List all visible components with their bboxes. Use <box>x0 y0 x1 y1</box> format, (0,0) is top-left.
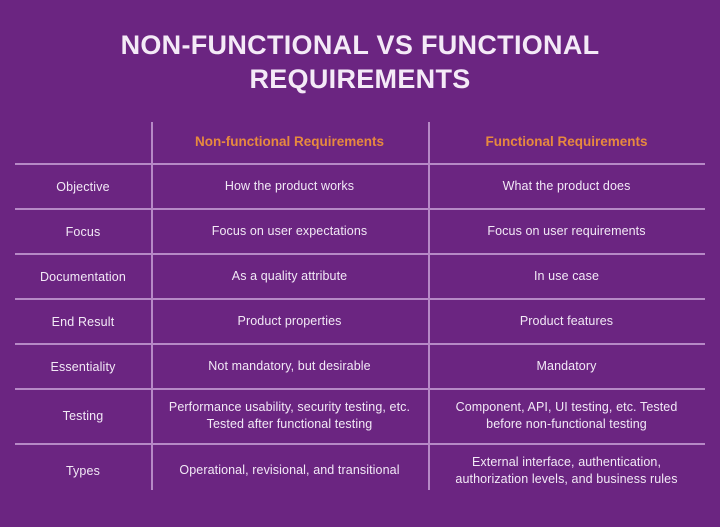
row-label-essentiality: Essentiality <box>15 344 151 389</box>
table-row: Focus Focus on user expectations Focus o… <box>15 209 705 254</box>
table-row: Types Operational, revisional, and trans… <box>15 444 705 498</box>
table-row: Testing Performance usability, security … <box>15 389 705 444</box>
column-divider-left <box>151 122 153 490</box>
row-label-objective: Objective <box>15 164 151 209</box>
cell-nfr-essentiality: Not mandatory, but desirable <box>151 344 428 389</box>
page-title: NON-FUNCTIONAL VS FUNCTIONAL REQUIREMENT… <box>108 28 612 96</box>
comparison-table-wrapper: Non-functional Requirements Functional R… <box>15 122 705 512</box>
table-row: Objective How the product works What the… <box>15 164 705 209</box>
comparison-table: Non-functional Requirements Functional R… <box>15 122 705 497</box>
row-label-types: Types <box>15 444 151 498</box>
table-header: Non-functional Requirements Functional R… <box>15 122 705 164</box>
table-header-row: Non-functional Requirements Functional R… <box>15 122 705 164</box>
header-cell-non-functional: Non-functional Requirements <box>151 122 428 164</box>
infographic-root: NON-FUNCTIONAL VS FUNCTIONAL REQUIREMENT… <box>0 0 720 527</box>
row-label-end-result: End Result <box>15 299 151 344</box>
row-label-documentation: Documentation <box>15 254 151 299</box>
row-label-focus: Focus <box>15 209 151 254</box>
table-row: End Result Product properties Product fe… <box>15 299 705 344</box>
cell-fr-focus: Focus on user requirements <box>428 209 705 254</box>
cell-fr-documentation: In use case <box>428 254 705 299</box>
cell-nfr-types: Operational, revisional, and transitiona… <box>151 444 428 498</box>
cell-nfr-objective: How the product works <box>151 164 428 209</box>
cell-fr-testing: Component, API, UI testing, etc. Tested … <box>428 389 705 444</box>
cell-fr-end-result: Product features <box>428 299 705 344</box>
table-body: Objective How the product works What the… <box>15 164 705 497</box>
cell-nfr-end-result: Product properties <box>151 299 428 344</box>
header-cell-blank <box>15 122 151 164</box>
cell-fr-types: External interface, authentication, auth… <box>428 444 705 498</box>
cell-nfr-documentation: As a quality attribute <box>151 254 428 299</box>
cell-fr-objective: What the product does <box>428 164 705 209</box>
row-label-testing: Testing <box>15 389 151 444</box>
cell-fr-essentiality: Mandatory <box>428 344 705 389</box>
table-row: Essentiality Not mandatory, but desirabl… <box>15 344 705 389</box>
cell-nfr-focus: Focus on user expectations <box>151 209 428 254</box>
column-divider-right <box>428 122 430 490</box>
table-row: Documentation As a quality attribute In … <box>15 254 705 299</box>
title-block: NON-FUNCTIONAL VS FUNCTIONAL REQUIREMENT… <box>0 0 720 96</box>
header-cell-functional: Functional Requirements <box>428 122 705 164</box>
cell-nfr-testing: Performance usability, security testing,… <box>151 389 428 444</box>
